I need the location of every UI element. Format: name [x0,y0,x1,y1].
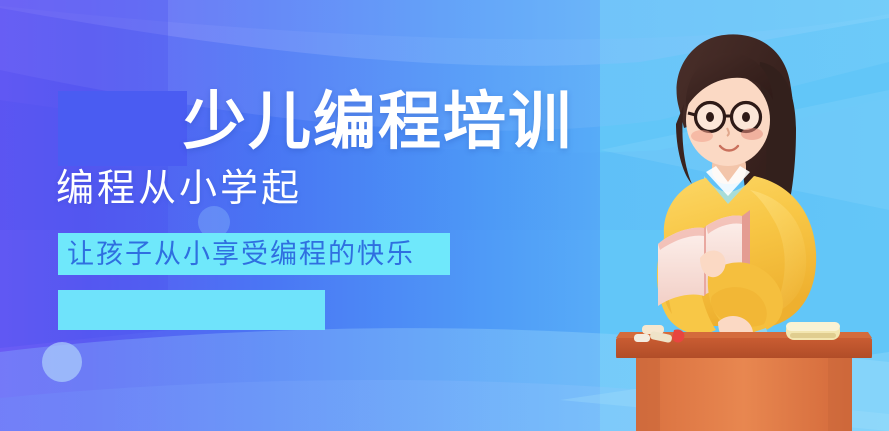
headline-accent-box [58,91,187,166]
banner-subheadline: 编程从小学起 [56,166,302,212]
desk-pencil-case [786,322,840,340]
illustration-girl-reading-at-desk [600,0,889,431]
girl-blush-left [691,130,713,142]
desk [616,332,872,431]
desk-chalk [634,334,650,342]
banner-headline: 少儿编程培训 [183,86,573,158]
banner-tagline: 让孩子从小享受编程的快乐 [58,233,415,275]
desk-body-shade [828,358,852,431]
banner-text-block: 少儿编程培训 编程从小学起 让孩子从小享受编程的快乐 [0,0,600,431]
girl-eye-right [742,112,750,122]
banner-empty-band [58,290,325,330]
girl-blush-right [741,128,763,140]
desk-top [616,338,872,358]
promo-banner: 少儿编程培训 编程从小学起 让孩子从小享受编程的快乐 [0,0,889,431]
desk-body-shade [636,358,660,431]
girl-eye-left [706,112,714,122]
desk-body [636,358,852,431]
banner-tagline-band: 让孩子从小享受编程的快乐 [58,233,450,275]
desk-stationery [634,325,684,343]
